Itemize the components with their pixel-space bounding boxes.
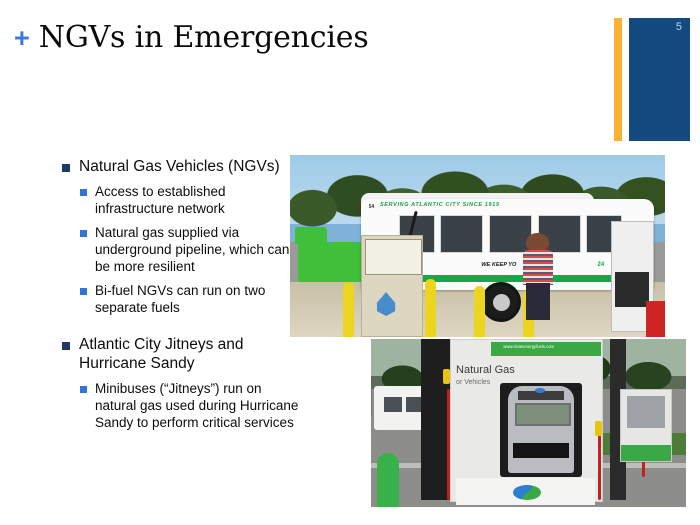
person-head: [526, 233, 549, 252]
bullet-level1: Atlantic City Jitneys and Hurricane Sand…: [62, 335, 302, 373]
plus-icon: +: [14, 25, 30, 52]
bullet-level2-text: Natural gas supplied via underground pip…: [95, 224, 302, 275]
slide-number: 5: [676, 21, 682, 33]
bullet-level2: Natural gas supplied via underground pip…: [80, 224, 302, 275]
secondary-dispenser: [620, 389, 672, 462]
fuel-nozzle: [595, 421, 602, 436]
sign-subtitle-text: or Vehicles: [456, 379, 490, 386]
bullet-level2-text: Bi-fuel NGVs can run on two separate fue…: [95, 282, 302, 316]
accent-bar-orange: [614, 18, 622, 141]
dispenser-display-screen: [515, 403, 571, 426]
bullet-level1-text: Natural Gas Vehicles (NGVs): [79, 157, 280, 176]
fuel-hose-red: [447, 389, 450, 500]
secondary-dispenser-face: [627, 396, 665, 428]
person-fueling: [523, 233, 553, 319]
page-title: NGVs in Emergencies: [39, 20, 369, 55]
slide-body: Natural Gas Vehicles (NGVs) Access to es…: [62, 155, 302, 431]
bullet-level1: Natural Gas Vehicles (NGVs): [62, 157, 302, 176]
bullet-marker-icon: [62, 164, 70, 172]
slide-title-row: + NGVs in Emergencies: [14, 20, 369, 55]
secondary-dispenser-base: [621, 445, 671, 461]
bullet-level2: Bi-fuel NGVs can run on two separate fue…: [80, 282, 302, 316]
bullet-sublist: Minibuses (“Jitneys”) run on natural gas…: [80, 380, 302, 431]
bullet-group-spacer: [62, 316, 302, 333]
safety-bollard: [343, 282, 354, 337]
bus-slogan-text: SERVING ATLANTIC CITY SINCE 1915: [380, 202, 500, 208]
bus-number-badge: 24: [598, 262, 605, 268]
sign-title-text: Natural Gas: [456, 364, 515, 376]
bullet-level2: Access to established infrastructure net…: [80, 183, 302, 217]
person-legs: [526, 283, 550, 321]
green-truck: [298, 242, 369, 282]
support-column: [421, 339, 449, 500]
person-torso: [523, 250, 553, 284]
bullet-sublist: Access to established infrastructure net…: [80, 183, 302, 316]
fuel-dispenser: [361, 235, 423, 337]
cng-fueling-station-photo: www.cleanenergyfuels.com Natural Gas or …: [371, 339, 686, 507]
bullet-level2: Minibuses (“Jitneys”) run on natural gas…: [80, 380, 302, 431]
bullet-level1-text: Atlantic City Jitneys and Hurricane Sand…: [79, 335, 302, 373]
fuel-hose-red: [598, 426, 601, 500]
bus-fleet-number: 54: [369, 204, 375, 210]
bullet-level2-text: Access to established infrastructure net…: [95, 183, 302, 217]
fuel-dispenser-unit: [500, 383, 582, 477]
presentation-slide: + NGVs in Emergencies 5 Natural Gas Vehi…: [0, 0, 700, 525]
bullet-marker-icon: [80, 230, 87, 237]
bullet-marker-icon: [80, 189, 87, 196]
van-window: [384, 397, 402, 413]
cng-jitney-bus-fueling-photo: 54 SERVING ATLANTIC CITY SINCE 1915 JITN…: [290, 155, 665, 337]
bus-window: [440, 215, 483, 253]
safety-bollard-green: [377, 453, 399, 507]
bullet-marker-icon: [62, 342, 70, 350]
bullet-level2-text: Minibuses (“Jitneys”) run on natural gas…: [95, 380, 302, 431]
fuel-nozzle: [443, 369, 450, 384]
water-drop-icon: [373, 292, 399, 316]
dispenser-head: [365, 239, 422, 275]
card-reader-slot: [513, 443, 569, 458]
accent-panel-navy: 5: [629, 18, 690, 141]
bullet-marker-icon: [80, 288, 87, 295]
bullet-marker-icon: [80, 386, 87, 393]
safety-bollard: [425, 279, 436, 337]
slide-number-block: 5: [614, 18, 690, 141]
red-equipment: [646, 301, 665, 337]
kiosk-screen: [615, 272, 650, 307]
sign-url-text: www.cleanenergyfuels.com: [503, 344, 554, 349]
bus-tagline-text: WE KEEP YO: [481, 262, 516, 268]
safety-bollard: [474, 286, 485, 337]
